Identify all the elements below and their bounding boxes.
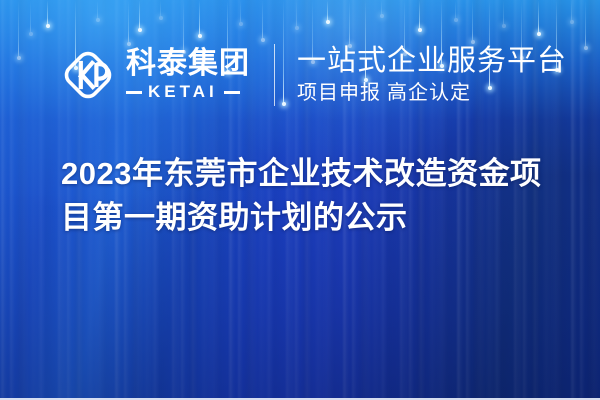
- logo-dash-right-icon: [224, 91, 240, 94]
- slogan-sub: 项目申报 高企认定: [297, 81, 567, 105]
- page-title: 2023年东莞市企业技术改造资金项目第一期资助计划的公示: [61, 152, 571, 240]
- logo-en-row: KETAI: [126, 82, 250, 102]
- slogan-block: 一站式企业服务平台 项目申报 高企认定: [297, 45, 567, 105]
- ketai-diamond-kp-logo-icon: [58, 45, 118, 105]
- logo-wordmark: 科泰集团 KETAI: [126, 48, 250, 103]
- header-divider: [274, 44, 275, 106]
- logo-company-en: KETAI: [148, 82, 218, 102]
- logo-dash-left-icon: [126, 91, 142, 94]
- logo-company-cn: 科泰集团: [126, 48, 250, 80]
- promo-banner: 科泰集团 KETAI 一站式企业服务平台 项目申报 高企认定 2023年东莞市企…: [0, 0, 600, 400]
- banner-header: 科泰集团 KETAI 一站式企业服务平台 项目申报 高企认定: [58, 44, 567, 106]
- slogan-main: 一站式企业服务平台: [297, 45, 567, 77]
